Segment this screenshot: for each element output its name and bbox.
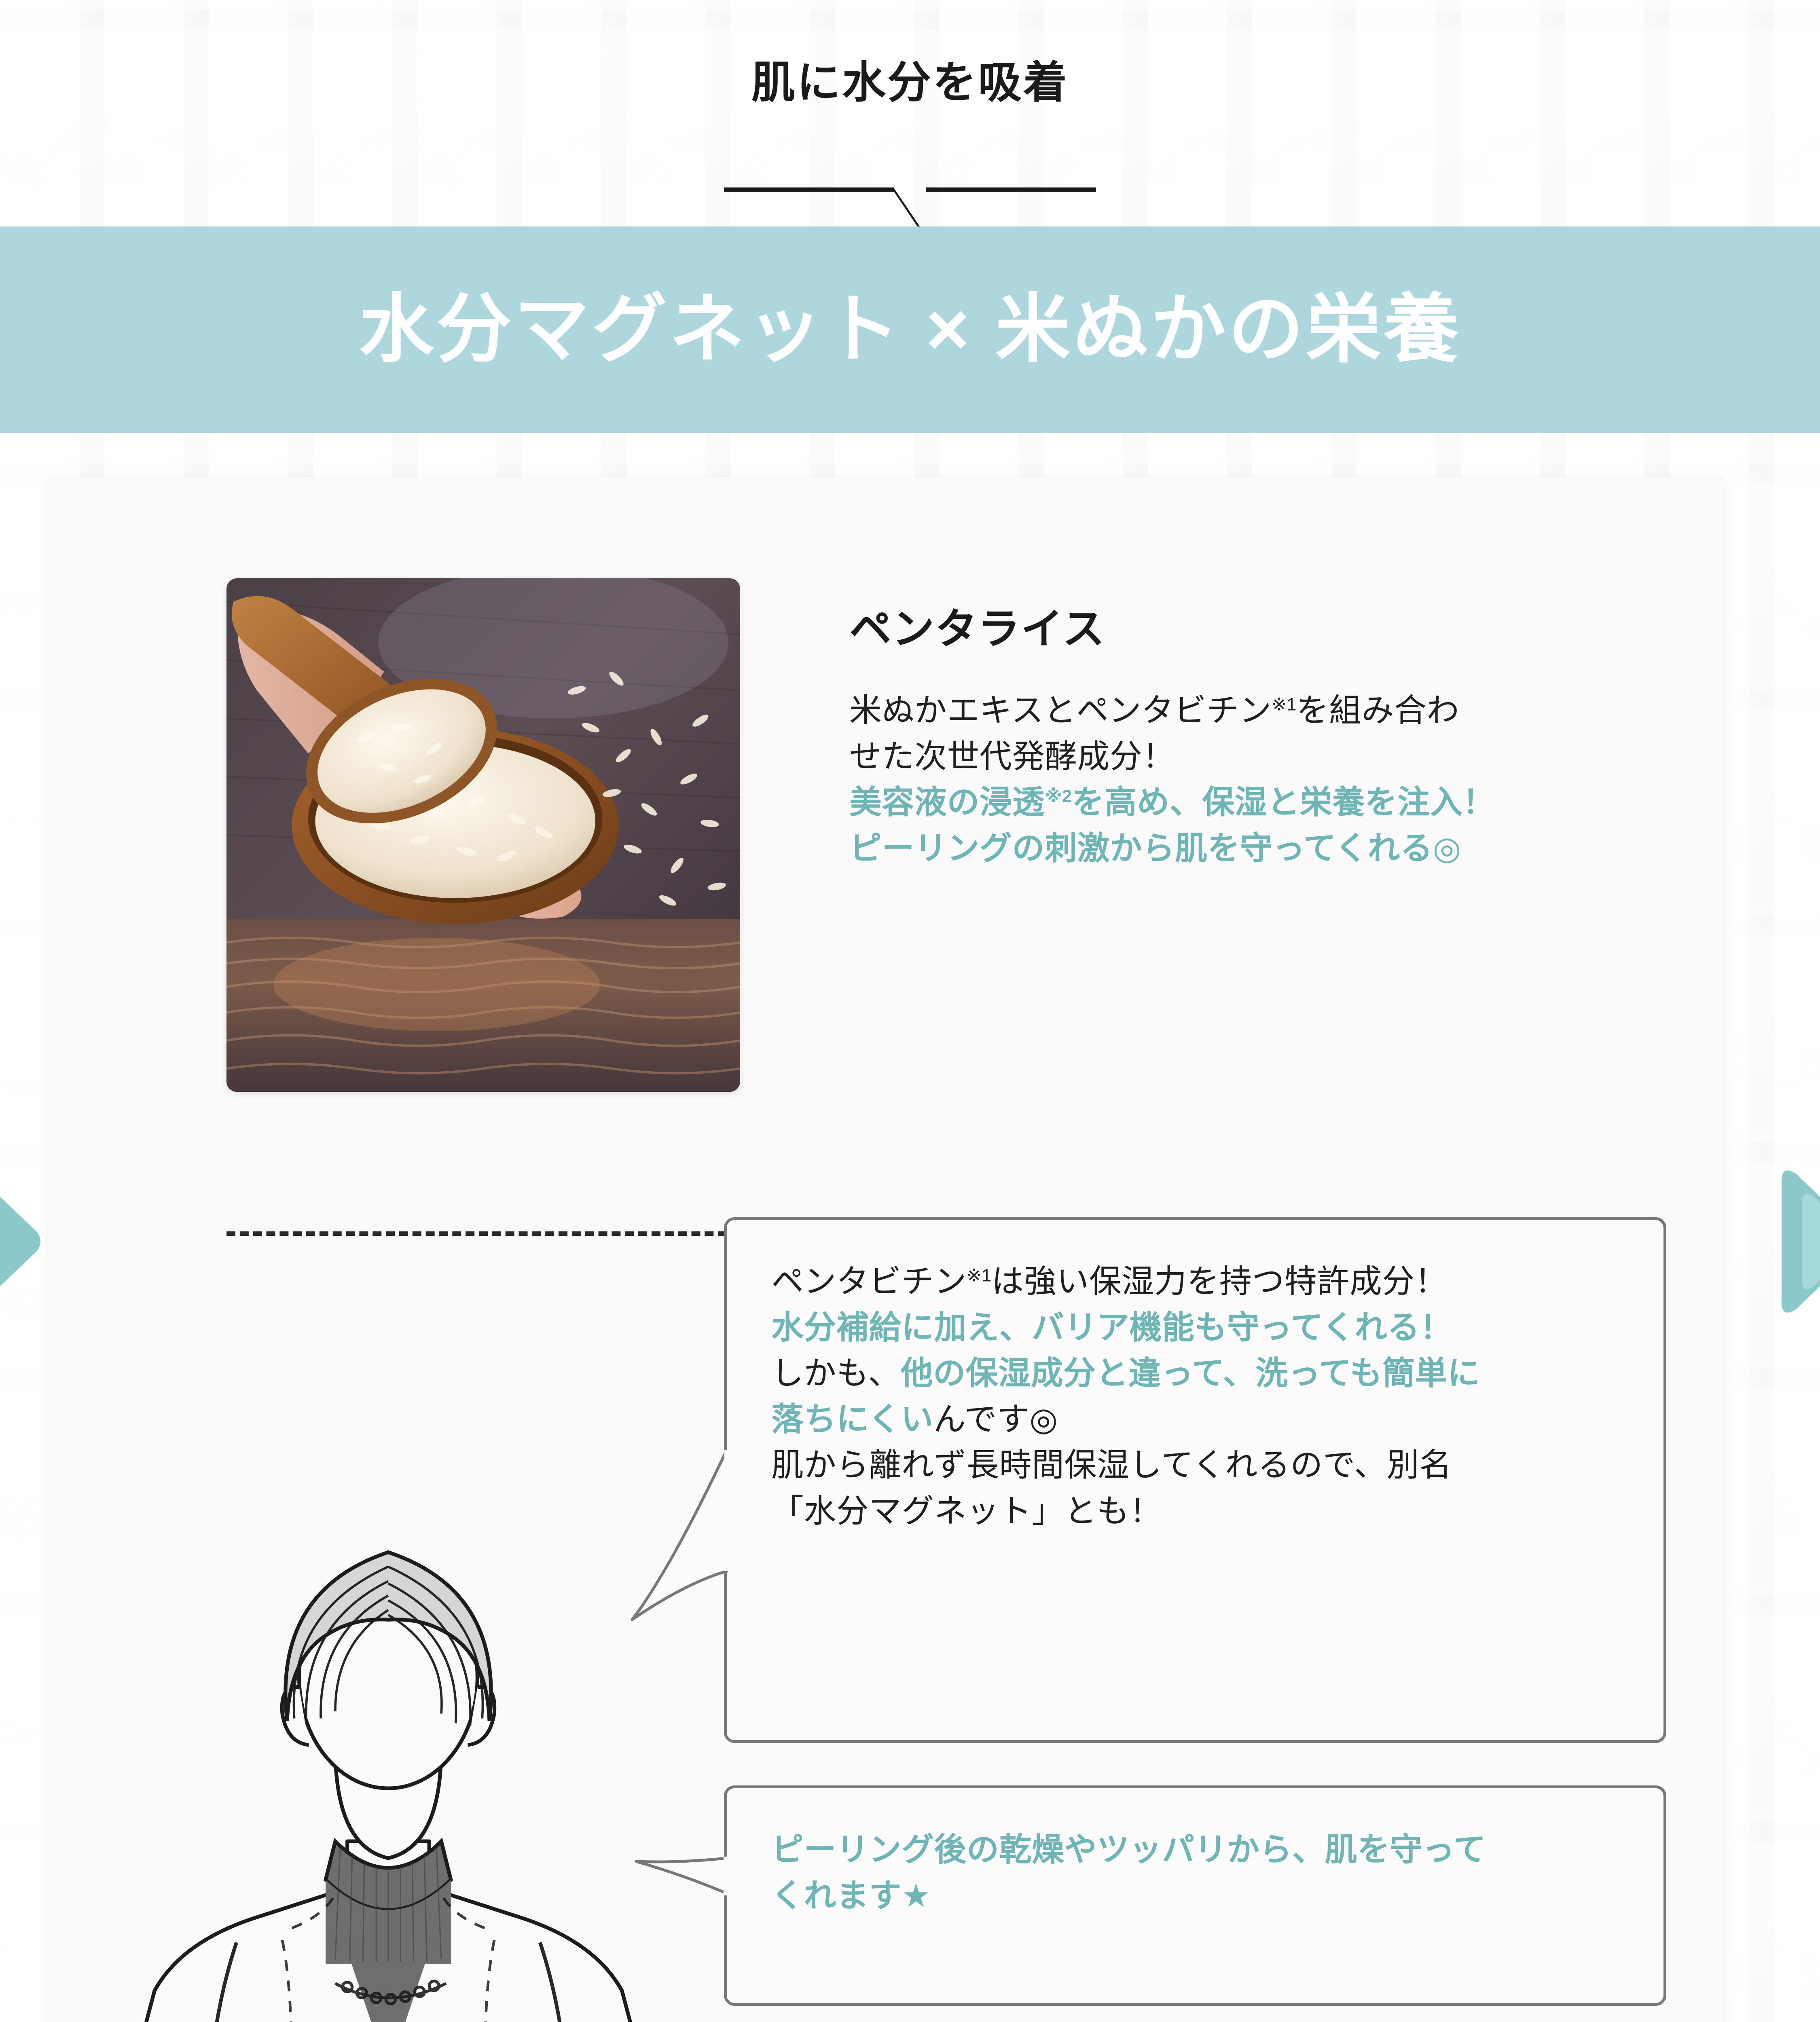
- person-line-art-icon: [109, 1519, 667, 2022]
- footnote-ref: ※1: [1272, 694, 1296, 714]
- bubble-1-line-3: しかも、他の保湿成分と違って、洗っても簡単に: [771, 1350, 1619, 1396]
- bubble-seg: しかも、: [771, 1355, 901, 1391]
- banner-title: 水分マグネット × 米ぬかの栄養: [359, 292, 1461, 367]
- desc-tail: を高め、保湿と栄養を注入！: [1072, 784, 1495, 820]
- bubble-1-line-2: 水分補給に加え、バリア機能も守ってくれる！: [771, 1305, 1619, 1351]
- double-chevron-right-icon-left: [0, 1165, 42, 1318]
- product-row: ペンタライス 米ぬかエキスとペンタビチン※1を組み合わ せた次世代発酵成分！ 美…: [226, 578, 1682, 1092]
- character-illustration: [109, 1519, 667, 2022]
- product-detail-page: 肌に水分を吸着 水分マグネット × 米ぬかの栄養: [0, 0, 1820, 2022]
- eyebrow-heading-wrap: 肌に水分を吸着: [0, 61, 1820, 104]
- bubble-seg-accent: 落ちにくい: [771, 1401, 933, 1437]
- eyebrow-heading: 肌に水分を吸着: [0, 61, 1820, 104]
- bubble-1-line-1: ペンタビチン※1は強い保湿力を持つ特許成分！: [771, 1258, 1619, 1305]
- bubble-2-line-2: くれます★: [771, 1873, 1619, 1919]
- eyebrow-rule-icon: [724, 184, 1096, 233]
- desc-text: 美容液の浸透: [849, 784, 1045, 820]
- bubble-1-line-5: 肌から離れず長時間保湿してくれるので、別名: [771, 1442, 1619, 1488]
- bubble-2-line-1: ピーリング後の乾燥やツッパリから、肌を守って: [771, 1827, 1619, 1873]
- desc-tail: を組み合わ: [1296, 692, 1459, 728]
- bubble-seg: んです◎: [933, 1401, 1058, 1437]
- speech-bubble-1: ペンタビチン※1は強い保湿力を持つ特許成分！ 水分補給に加え、バリア機能も守って…: [724, 1217, 1666, 1743]
- bubble-1-line-6: 「水分マグネット」とも！: [771, 1488, 1619, 1534]
- product-name: ペンタライス: [849, 608, 1682, 650]
- footnote-ref: ※2: [1045, 787, 1072, 806]
- product-desc-line-4: ピーリングの刺激から肌を守ってくれる◎: [849, 825, 1682, 871]
- product-desc-line-2: せた次世代発酵成分！: [849, 734, 1682, 780]
- double-chevron-right-icon-right: [1778, 1165, 1820, 1318]
- bubble-seg: は強い保湿力を持つ特許成分！: [991, 1263, 1447, 1299]
- bubble-seg: ペンタビチン: [771, 1263, 967, 1299]
- product-desc-line-3: 美容液の浸透※2を高め、保湿と栄養を注入！: [849, 779, 1682, 825]
- product-info: ペンタライス 米ぬかエキスとペンタビチン※1を組み合わ せた次世代発酵成分！ 美…: [849, 578, 1682, 871]
- bubble-1-line-4: 落ちにくいんです◎: [771, 1396, 1619, 1442]
- rice-photo: [226, 578, 740, 1092]
- dashed-divider: [226, 1231, 740, 1236]
- desc-text: 米ぬかエキスとペンタビチン: [849, 692, 1272, 728]
- speech-bubble-2: ピーリング後の乾燥やツッパリから、肌を守って くれます★: [724, 1785, 1666, 2006]
- bubble-seg-accent: 他の保湿成分と違って、洗っても簡単に: [901, 1355, 1480, 1391]
- product-desc-line-1: 米ぬかエキスとペンタビチン※1を組み合わ: [849, 687, 1682, 734]
- footnote-ref: ※1: [967, 1265, 991, 1285]
- rice-photo-illustration: [226, 578, 740, 1092]
- banner: 水分マグネット × 米ぬかの栄養: [0, 226, 1820, 433]
